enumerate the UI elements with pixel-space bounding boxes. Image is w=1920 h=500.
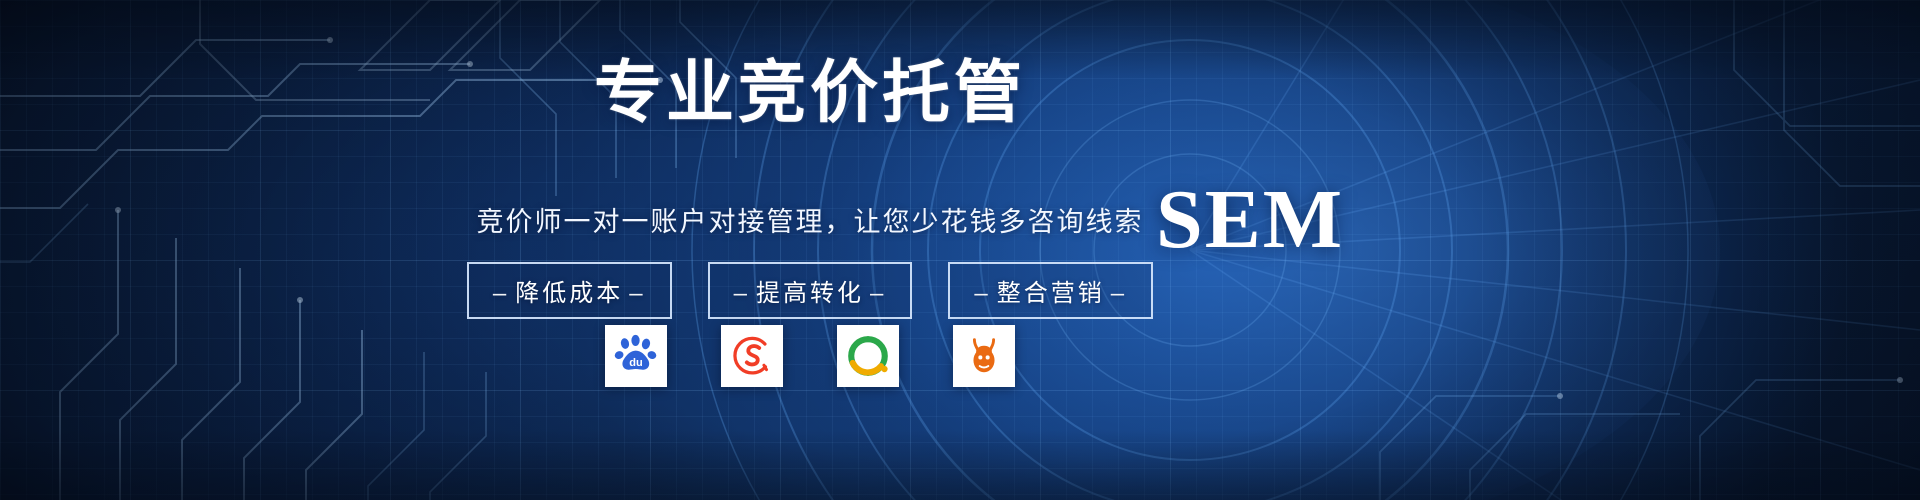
feature-tag-label: 提高转化 — [756, 280, 864, 307]
feature-tag-cost[interactable]: –降低成本– — [467, 262, 672, 319]
baidu-logo[interactable]: du — [605, 325, 667, 387]
feature-tag-list: –降低成本– –提高转化– –整合营销– — [300, 262, 1320, 319]
banner-content: 专业竞价托管 竞价师一对一账户对接管理，让您少花钱多咨询线索 –降低成本– –提… — [0, 0, 1920, 500]
360-logo[interactable] — [837, 325, 899, 387]
sem-brand-mark: SEM — [1100, 178, 1400, 262]
banner-title: 专业竞价托管 — [480, 58, 1140, 129]
sem-promo-banner: 专业竞价托管 竞价师一对一账户对接管理，让您少花钱多咨询线索 –降低成本– –提… — [0, 0, 1920, 500]
tag-dash-left: – — [487, 280, 515, 307]
tag-dash-left: – — [728, 280, 756, 307]
tag-dash-left: – — [968, 280, 996, 307]
shenma-logo[interactable] — [953, 325, 1015, 387]
tag-dash-right: – — [623, 280, 651, 307]
feature-tag-marketing[interactable]: –整合营销– — [948, 262, 1153, 319]
platform-logo-list: du — [300, 325, 1320, 387]
sogou-logo[interactable] — [721, 325, 783, 387]
svg-text:du: du — [629, 357, 642, 369]
tag-dash-right: – — [864, 280, 892, 307]
feature-tag-label: 整合营销 — [997, 280, 1105, 307]
feature-tag-conversion[interactable]: –提高转化– — [708, 262, 913, 319]
tag-dash-right: – — [1105, 280, 1133, 307]
feature-tag-label: 降低成本 — [515, 280, 623, 307]
